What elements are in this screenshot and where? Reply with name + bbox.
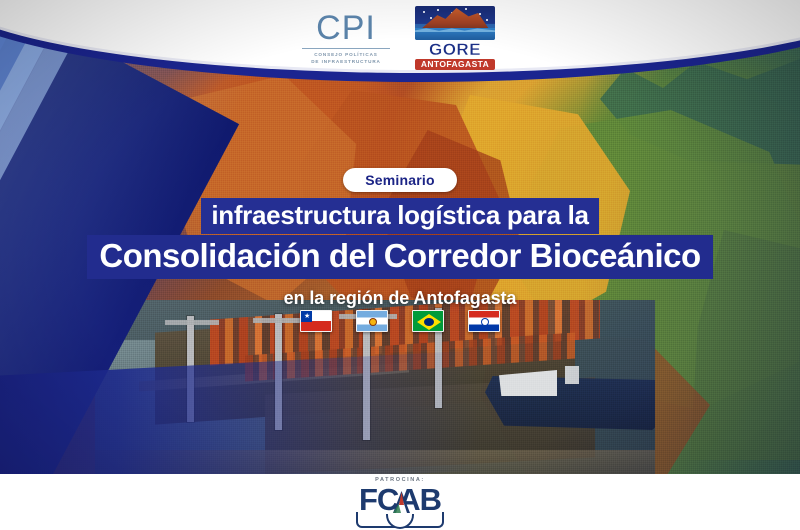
- gore-logo: GORE ANTOFAGASTA: [412, 6, 498, 70]
- cpi-divider: [302, 48, 390, 49]
- event-type-badge: Seminario: [343, 168, 457, 192]
- cpi-subtitle-line-1: CONSEJO POLÍTICAS: [314, 51, 378, 58]
- gore-antofagasta-logo-icon: [415, 6, 495, 40]
- cpi-logo-icon: CPI: [316, 11, 376, 45]
- flag-paraguay-icon: [468, 310, 500, 332]
- country-flags: ★: [0, 310, 800, 332]
- flag-chile-icon: ★: [300, 310, 332, 332]
- flag-argentina-icon: [356, 310, 388, 332]
- sponsor-footer: PATROCINA: FCAB: [0, 474, 800, 530]
- flag-brazil-globe: [424, 318, 434, 326]
- fcab-logo-icon: FCAB: [352, 484, 448, 526]
- gore-region-label: ANTOFAGASTA: [415, 59, 495, 70]
- title-block: Seminario infraestructura logística para…: [0, 168, 800, 309]
- seminar-poster: CPI CONSEJO POLÍTICAS DE INFRAESTRUCTURA…: [0, 0, 800, 530]
- cpi-logo: CPI CONSEJO POLÍTICAS DE INFRAESTRUCTURA: [302, 11, 390, 65]
- flag-argentina-sun: [370, 319, 376, 325]
- flag-paraguay-emblem: [482, 319, 488, 325]
- title-line-2: Consolidación del Corredor Bioceánico: [87, 235, 712, 279]
- logo-bar: CPI CONSEJO POLÍTICAS DE INFRAESTRUCTURA…: [0, 6, 800, 70]
- title-subtitle: en la región de Antofagasta: [284, 288, 517, 309]
- cpi-subtitle-line-2: DE INFRAESTRUCTURA: [311, 58, 381, 65]
- gore-wordmark: GORE: [429, 41, 481, 58]
- flag-brazil-icon: [412, 310, 444, 332]
- title-line-1: infraestructura logística para la: [201, 198, 598, 234]
